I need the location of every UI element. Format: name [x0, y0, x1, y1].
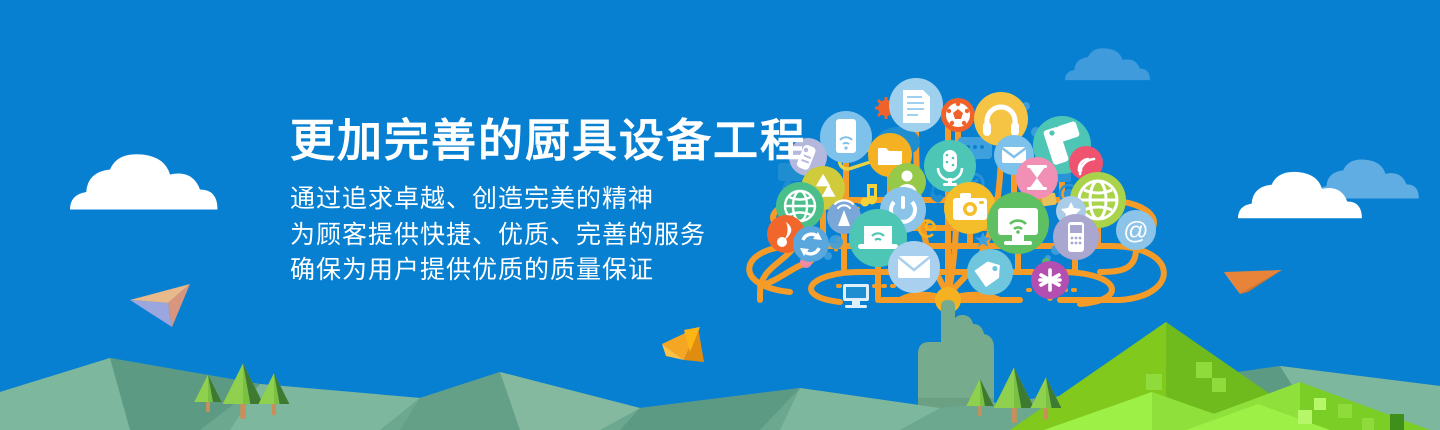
svg-text:@: @	[1123, 217, 1148, 245]
icon-node-envelope[interactable]	[888, 241, 940, 293]
icon-node-refresh[interactable]	[793, 226, 829, 262]
banner-copy: 更加完善的厨具设备工程 通过追求卓越、创造完美的精神 为顾客提供快捷、优质、完善…	[290, 116, 760, 289]
icon-node-tag[interactable]	[967, 249, 1013, 295]
icon-node-document[interactable]	[889, 78, 943, 132]
icon-node-at-sign[interactable]: @	[1116, 210, 1156, 250]
icon-node-smartphone-wifi[interactable]	[820, 111, 872, 163]
icon-node-feature-phone[interactable]	[1053, 214, 1099, 260]
subtitle-line-2: 为顾客提供快捷、优质、完善的服务	[290, 218, 760, 254]
icon-node-soccer-ball[interactable]	[941, 98, 975, 132]
page-title: 更加完善的厨具设备工程	[290, 116, 760, 166]
hero-banner: @	[0, 0, 1440, 430]
icon-node-asterisk[interactable]	[1031, 261, 1069, 299]
subtitle-line-3: 确保为用户提供优质的质量保证	[290, 253, 760, 289]
banner-subtitle: 通过追求卓越、创造完美的精神 为顾客提供快捷、优质、完善的服务 确保为用户提供优…	[290, 182, 760, 289]
subtitle-line-1: 通过追求卓越、创造完美的精神	[290, 182, 760, 218]
icon-node-monitor-wifi[interactable]	[987, 192, 1049, 254]
